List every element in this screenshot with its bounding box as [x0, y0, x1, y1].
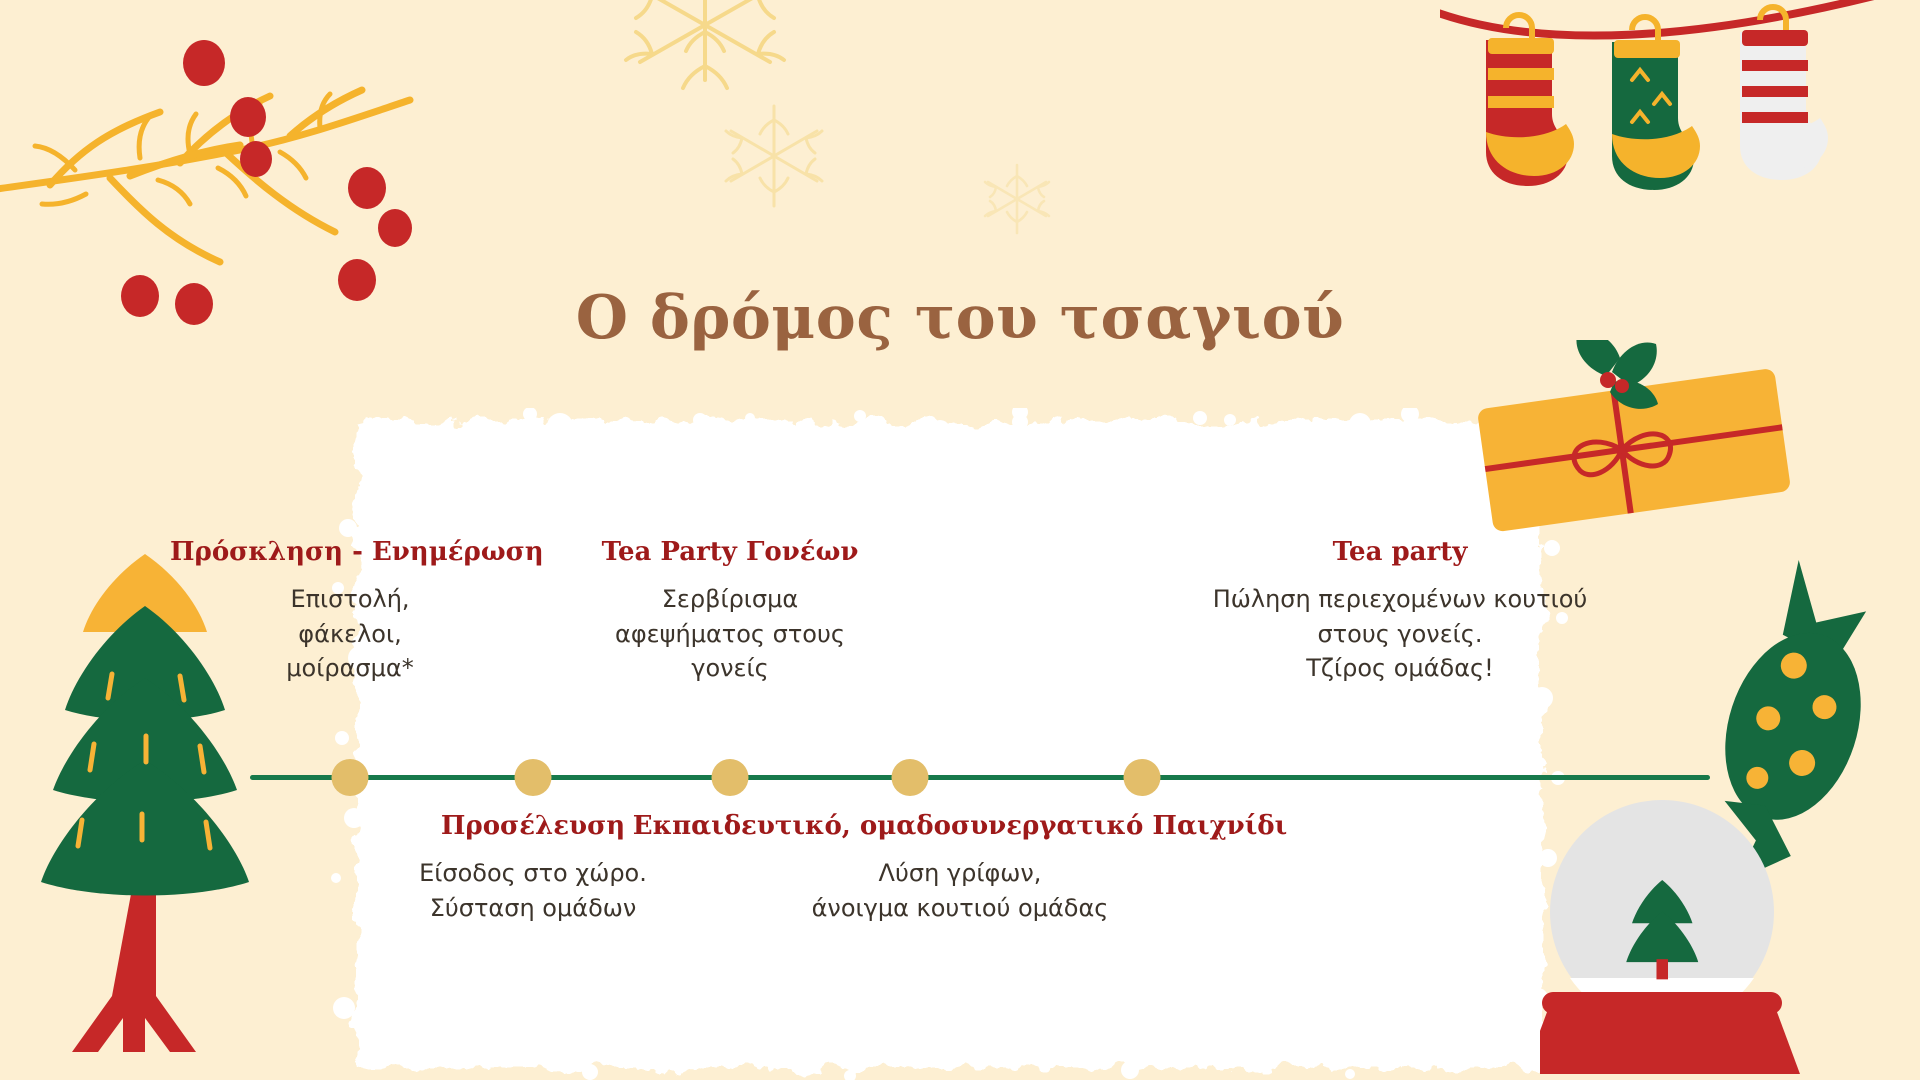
desc-line: φάκελοι,	[170, 617, 530, 652]
timeline: Πρόσκληση - Ενημέρωση Επιστολή, φάκελοι,…	[0, 0, 1920, 1080]
desc-line: Λύση γρίφων,	[600, 856, 1320, 891]
desc-line: γονείς	[550, 651, 910, 686]
desc-line: άνοιγμα κουτιού ομάδας	[600, 891, 1320, 926]
desc-line: Τζίρος ομάδας!	[1120, 651, 1680, 686]
desc-line: Επιστολή,	[170, 582, 530, 617]
timeline-node-1-description: Επιστολή, φάκελοι, μοίρασμα*	[170, 582, 530, 686]
timeline-node-4-description: Λύση γρίφων, άνοιγμα κουτιού ομάδας	[600, 856, 1320, 926]
timeline-node-1: Πρόσκληση - Ενημέρωση Επιστολή, φάκελοι,…	[170, 538, 530, 686]
timeline-node-5-title: Tea party	[1120, 538, 1680, 568]
page-title: Ο δρόμος του τσαγιού	[0, 288, 1920, 348]
slide-canvas: Ο δρόμος του τσαγιού Πρόσκληση - Ενημέρω…	[0, 0, 1920, 1080]
timeline-node-4: Εκπαιδευτικό, ομαδοσυνεργατικό Παιχνίδι …	[600, 812, 1320, 925]
timeline-dot-5[interactable]	[1124, 759, 1161, 796]
desc-line: μοίρασμα*	[170, 651, 530, 686]
timeline-node-3-description: Σερβίρισμα αφεψήματος στους γονείς	[550, 582, 910, 686]
desc-line: αφεψήματος στους	[550, 617, 910, 652]
desc-line: Σερβίρισμα	[550, 582, 910, 617]
timeline-node-1-title: Πρόσκληση - Ενημέρωση	[170, 538, 530, 568]
timeline-dot-3[interactable]	[712, 759, 749, 796]
timeline-dot-2[interactable]	[515, 759, 552, 796]
timeline-dot-1[interactable]	[332, 759, 369, 796]
desc-line: Πώληση περιεχομένων κουτιού	[1120, 582, 1680, 617]
timeline-axis-line	[250, 775, 1710, 780]
timeline-dot-4[interactable]	[892, 759, 929, 796]
timeline-node-3-title: Tea Party Γονέων	[550, 538, 910, 568]
desc-line: στους γονείς.	[1120, 617, 1680, 652]
timeline-node-5-description: Πώληση περιεχομένων κουτιού στους γονείς…	[1120, 582, 1680, 686]
timeline-node-4-title: Εκπαιδευτικό, ομαδοσυνεργατικό Παιχνίδι	[600, 812, 1320, 842]
timeline-node-5: Tea party Πώληση περιεχομένων κουτιού στ…	[1120, 538, 1680, 686]
timeline-node-3: Tea Party Γονέων Σερβίρισμα αφεψήματος σ…	[550, 538, 910, 686]
